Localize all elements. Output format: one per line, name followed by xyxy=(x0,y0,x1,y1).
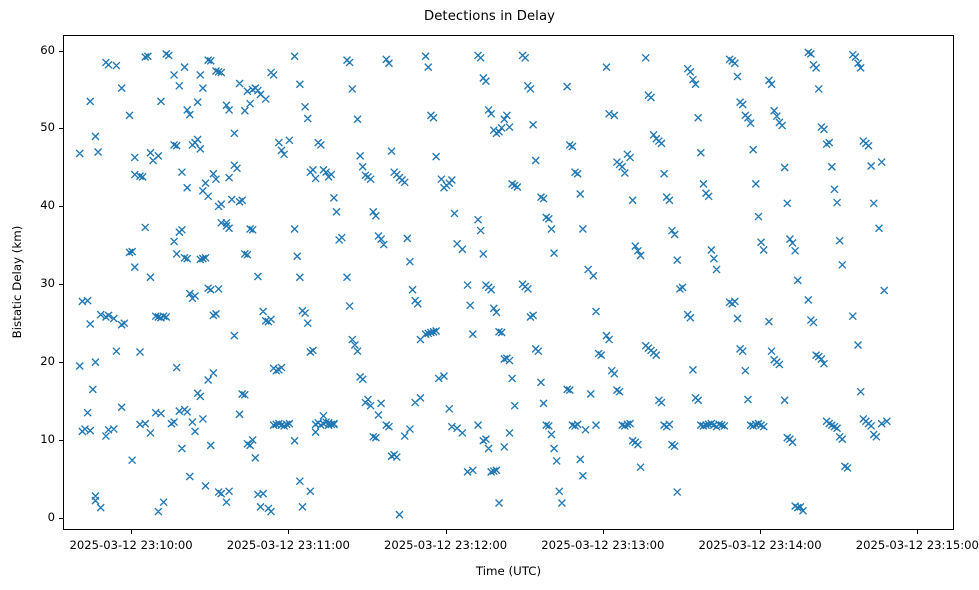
scatter-series xyxy=(64,36,954,530)
x-tick-label: 2025-03-12 23:10:00 xyxy=(70,538,193,552)
y-tick-label: 0 xyxy=(48,510,55,524)
x-tick-label: 2025-03-12 23:14:00 xyxy=(698,538,821,552)
y-tick-label: 10 xyxy=(40,432,55,446)
page-title: Detections in Delay xyxy=(0,9,979,24)
y-axis-label: Bistatic Delay (km) xyxy=(10,222,24,342)
y-tick-label: 60 xyxy=(40,43,55,57)
y-tick-label: 20 xyxy=(40,354,55,368)
x-tick-mark xyxy=(131,530,132,534)
plot-axes xyxy=(63,35,954,530)
x-tick-mark xyxy=(446,530,447,534)
x-tick-label: 2025-03-12 23:12:00 xyxy=(384,538,507,552)
x-tick-mark xyxy=(603,530,604,534)
x-axis-label: Time (UTC) xyxy=(63,564,954,578)
y-tick-label: 50 xyxy=(40,120,55,134)
x-tick-mark xyxy=(760,530,761,534)
matplotlib-figure: Detections in Delay 0102030405060 2025-0… xyxy=(0,0,979,590)
x-tick-mark xyxy=(288,530,289,534)
y-tick-label: 40 xyxy=(40,198,55,212)
x-tick-mark xyxy=(917,530,918,534)
y-tick-label: 30 xyxy=(40,276,55,290)
x-tick-label: 2025-03-12 23:11:00 xyxy=(227,538,350,552)
x-tick-label: 2025-03-12 23:13:00 xyxy=(541,538,664,552)
x-tick-label: 2025-03-12 23:15:00 xyxy=(856,538,979,552)
